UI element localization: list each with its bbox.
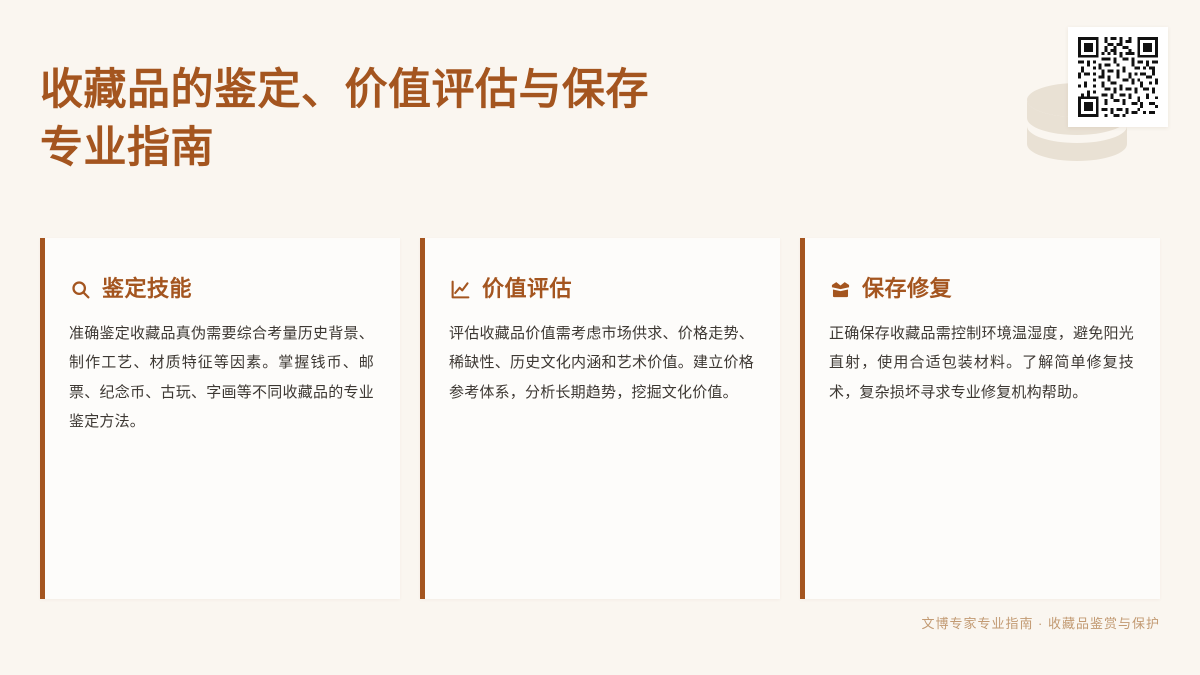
database-stack-icon bbox=[1018, 82, 1136, 168]
page-header: 收藏品的鉴定、价值评估与保存 专业指南 bbox=[40, 62, 800, 177]
page-title-line-1: 收藏品的鉴定、价值评估与保存 bbox=[40, 67, 649, 114]
card-appraisal-skills[interactable]: 鉴定技能 准确鉴定收藏品真伪需要综合考量历史背景、制作工艺、材质特征等因素。掌握… bbox=[40, 238, 400, 599]
open-box-icon bbox=[829, 278, 851, 300]
page-title: 收藏品的鉴定、价值评估与保存 专业指南 bbox=[40, 62, 800, 177]
page-title-line-2: 专业指南 bbox=[40, 125, 214, 172]
qr-code-icon bbox=[1075, 34, 1161, 120]
card-header: 价值评估 bbox=[449, 278, 754, 300]
card-title: 价值评估 bbox=[482, 278, 572, 300]
decorative-cluster bbox=[1000, 0, 1200, 190]
card-header: 鉴定技能 bbox=[69, 278, 374, 300]
card-body-text: 准确鉴定收藏品真伪需要综合考量历史背景、制作工艺、材质特征等因素。掌握钱币、邮票… bbox=[69, 319, 374, 436]
card-title: 保存修复 bbox=[862, 278, 952, 300]
card-body-text: 正确保存收藏品需控制环境温湿度，避免阳光直射，使用合适包装材料。了解简单修复技术… bbox=[829, 319, 1134, 407]
card-body-text: 评估收藏品价值需考虑市场供求、价格走势、稀缺性、历史文化内涵和艺术价值。建立价格… bbox=[449, 319, 754, 407]
footer-caption: 文博专家专业指南 · 收藏品鉴赏与保护 bbox=[921, 613, 1160, 632]
search-icon bbox=[69, 278, 91, 300]
feature-cards-row: 鉴定技能 准确鉴定收藏品真伪需要综合考量历史背景、制作工艺、材质特征等因素。掌握… bbox=[40, 238, 1160, 599]
card-header: 保存修复 bbox=[829, 278, 1134, 300]
chart-line-icon bbox=[449, 278, 471, 300]
card-value-assessment[interactable]: 价值评估 评估收藏品价值需考虑市场供求、价格走势、稀缺性、历史文化内涵和艺术价值… bbox=[420, 238, 780, 599]
qr-code-card[interactable] bbox=[1068, 27, 1168, 127]
card-title: 鉴定技能 bbox=[102, 278, 192, 300]
card-preservation-restoration[interactable]: 保存修复 正确保存收藏品需控制环境温湿度，避免阳光直射，使用合适包装材料。了解简… bbox=[800, 238, 1160, 599]
